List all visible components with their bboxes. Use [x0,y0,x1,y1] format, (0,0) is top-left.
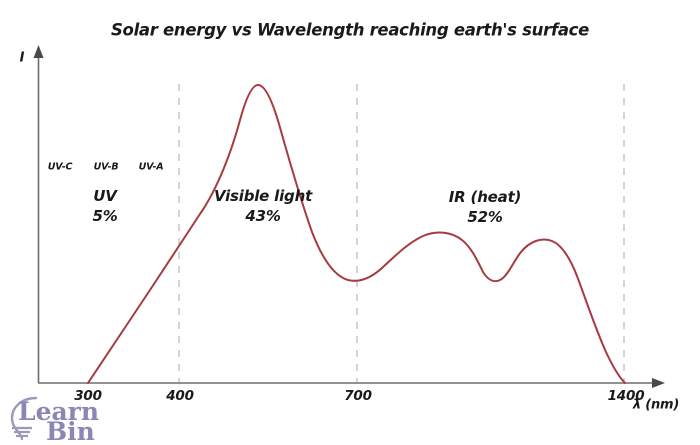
uv-band-percent: 5% [92,207,117,225]
visible-band-percent: 43% [245,207,280,225]
chart-figure: Solar energy vs Wavelength reaching eart… [0,0,700,445]
ir-band-percent: 52% [467,208,502,226]
visible-band-name: Visible light [214,187,312,205]
x-tick-400: 400 [166,388,194,404]
logo-text-bin: Bin [46,417,95,444]
learnbin-logo[interactable]: Learn Bin [4,392,124,444]
uv-b-label: UV-B [94,162,119,173]
x-tick-1400: 1400 [608,388,645,404]
uv-c-label: UV-C [48,162,73,173]
x-axis-arrow-icon [652,378,665,388]
uv-band-name: UV [93,187,116,205]
uv-a-label: UV-A [139,162,164,173]
y-axis-label: I [20,51,25,66]
y-axis-arrow-icon [34,45,44,58]
x-tick-700: 700 [344,388,372,404]
page-title: Solar energy vs Wavelength reaching eart… [111,21,589,40]
ir-band-name: IR (heat) [449,188,521,206]
